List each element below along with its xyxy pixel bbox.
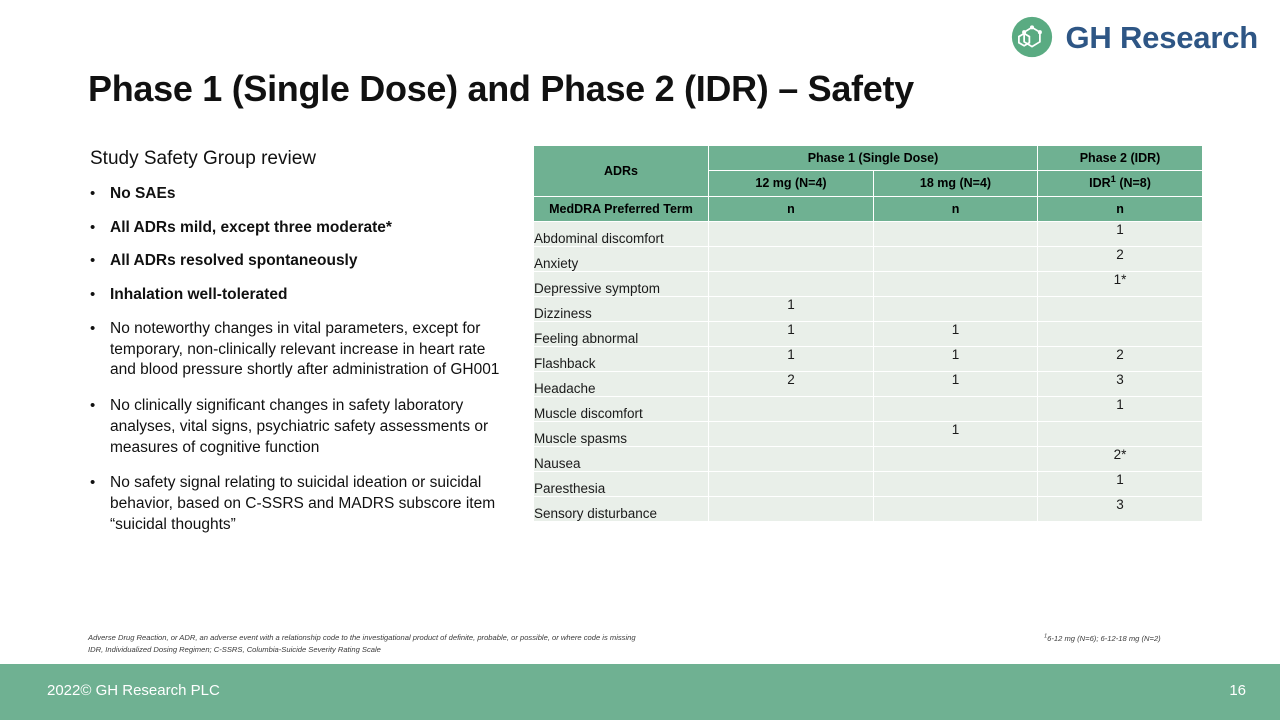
cell-12mg: [709, 497, 874, 522]
adr-table-body: Abdominal discomfort 1 Anxiety 2 Depress…: [534, 222, 1203, 522]
cell-18mg: [874, 472, 1038, 497]
cell-18mg: 1: [874, 347, 1038, 372]
footnote-right: 16-12 mg (N=6); 6-12-18 mg (N=2): [1044, 633, 1161, 645]
summary-heading: Study Safety Group review: [90, 148, 500, 171]
brand-name: GH Research: [1065, 22, 1258, 53]
cell-12mg: [709, 397, 874, 422]
bullet-dot-icon: •: [90, 218, 110, 238]
column-header-phase2: Phase 2 (IDR): [1038, 146, 1203, 171]
table-row: Flashback 1 1 2: [534, 347, 1203, 372]
column-header-dose-12mg: 12 mg (N=4): [709, 171, 874, 196]
bullet-dot-icon: •: [90, 319, 110, 339]
list-item: • Inhalation well-tolerated: [90, 285, 500, 306]
cell-18mg: 1: [874, 372, 1038, 397]
table-row: Sensory disturbance 3: [534, 497, 1203, 522]
table-row: Feeling abnormal 1 1: [534, 322, 1203, 347]
cell-idr: 3: [1038, 497, 1203, 522]
cell-12mg: [709, 472, 874, 497]
footnote-right-text: 6-12 mg (N=6); 6-12-18 mg (N=2): [1047, 634, 1161, 643]
cell-18mg: [874, 272, 1038, 297]
cell-idr: 1: [1038, 397, 1203, 422]
cell-18mg: [874, 222, 1038, 247]
cell-term: Feeling abnormal: [534, 322, 709, 347]
bullet-dot-icon: •: [90, 285, 110, 305]
cell-idr: 2*: [1038, 447, 1203, 472]
list-item-label: No clinically significant changes in saf…: [110, 396, 500, 458]
cell-18mg: [874, 297, 1038, 322]
cell-18mg: [874, 497, 1038, 522]
cell-term: Flashback: [534, 347, 709, 372]
table-row: Dizziness 1: [534, 297, 1203, 322]
bullet-dot-icon: •: [90, 251, 110, 271]
cell-term: Depressive symptom: [534, 272, 709, 297]
cell-term: Dizziness: [534, 297, 709, 322]
list-item-label: Inhalation well-tolerated: [110, 285, 500, 306]
idr-label: IDR: [1089, 176, 1111, 190]
footnote-line-2: IDR, Individualized Dosing Regimen; C-SS…: [88, 644, 788, 656]
column-header-dose-idr: IDR1 (N=8): [1038, 171, 1203, 196]
list-item-label: All ADRs mild, except three moderate*: [110, 218, 500, 239]
bullet-dot-icon: •: [90, 184, 110, 204]
table-row: Headache 2 1 3: [534, 372, 1203, 397]
cell-18mg: [874, 397, 1038, 422]
table-row: Nausea 2*: [534, 447, 1203, 472]
list-item-label: All ADRs resolved spontaneously: [110, 251, 500, 272]
cell-term: Muscle spasms: [534, 422, 709, 447]
cell-term: Muscle discomfort: [534, 397, 709, 422]
cell-idr: [1038, 297, 1203, 322]
list-item: • No noteworthy changes in vital paramet…: [90, 319, 500, 381]
cell-term: Paresthesia: [534, 472, 709, 497]
cell-12mg: 1: [709, 322, 874, 347]
list-item-label: No noteworthy changes in vital parameter…: [110, 319, 500, 381]
cell-12mg: [709, 272, 874, 297]
footnote-line-1: Adverse Drug Reaction, or ADR, an advers…: [88, 632, 788, 644]
cell-idr: 1: [1038, 222, 1203, 247]
column-header-adrs: ADRs: [534, 146, 709, 197]
molecule-hexagon-icon: [1011, 16, 1053, 58]
list-item: • No clinically significant changes in s…: [90, 396, 500, 458]
cell-12mg: 1: [709, 297, 874, 322]
cell-12mg: [709, 422, 874, 447]
table-row: Anxiety 2: [534, 247, 1203, 272]
list-item: • All ADRs resolved spontaneously: [90, 251, 500, 272]
cell-12mg: [709, 222, 874, 247]
cell-idr: 1*: [1038, 272, 1203, 297]
cell-term: Sensory disturbance: [534, 497, 709, 522]
cell-12mg: [709, 247, 874, 272]
cell-18mg: [874, 447, 1038, 472]
column-header-phase1: Phase 1 (Single Dose): [709, 146, 1038, 171]
page-number: 16: [1229, 682, 1246, 699]
cell-12mg: 2: [709, 372, 874, 397]
adr-table-container: ADRs Phase 1 (Single Dose) Phase 2 (IDR)…: [533, 145, 1202, 522]
cell-idr: [1038, 422, 1203, 447]
table-row: Paresthesia 1: [534, 472, 1203, 497]
list-item: • No safety signal relating to suicidal …: [90, 473, 500, 535]
page-title: Phase 1 (Single Dose) and Phase 2 (IDR) …: [88, 68, 914, 110]
table-header-row-meddra: MedDRA Preferred Term n n n: [534, 196, 1203, 221]
list-item-label: No SAEs: [110, 184, 500, 205]
bullet-dot-icon: •: [90, 396, 110, 416]
cell-term: Headache: [534, 372, 709, 397]
column-header-n-18mg: n: [874, 196, 1038, 221]
bullet-dot-icon: •: [90, 473, 110, 493]
idr-count: (N=8): [1116, 176, 1151, 190]
cell-12mg: 1: [709, 347, 874, 372]
footnote-left: Adverse Drug Reaction, or ADR, an advers…: [88, 632, 788, 656]
cell-idr: [1038, 322, 1203, 347]
list-item: • No SAEs: [90, 184, 500, 205]
column-header-dose-18mg: 18 mg (N=4): [874, 171, 1038, 196]
list-item: • All ADRs mild, except three moderate*: [90, 218, 500, 239]
brand-logo: GH Research: [1011, 16, 1258, 58]
table-row: Muscle discomfort 1: [534, 397, 1203, 422]
cell-18mg: 1: [874, 322, 1038, 347]
footer-copyright: 2022© GH Research PLC: [47, 682, 220, 699]
column-header-meddra: MedDRA Preferred Term: [534, 196, 709, 221]
cell-term: Nausea: [534, 447, 709, 472]
table-row: Abdominal discomfort 1: [534, 222, 1203, 247]
cell-18mg: [874, 247, 1038, 272]
table-row: Muscle spasms 1: [534, 422, 1203, 447]
table-header-row-groups: ADRs Phase 1 (Single Dose) Phase 2 (IDR): [534, 146, 1203, 171]
cell-idr: 1: [1038, 472, 1203, 497]
table-row: Depressive symptom 1*: [534, 272, 1203, 297]
cell-idr: 3: [1038, 372, 1203, 397]
summary-panel: Study Safety Group review • No SAEs • Al…: [90, 148, 500, 551]
cell-term: Abdominal discomfort: [534, 222, 709, 247]
footer-bar: 2022© GH Research PLC 16: [0, 664, 1280, 720]
cell-18mg: 1: [874, 422, 1038, 447]
list-item-label: No safety signal relating to suicidal id…: [110, 473, 500, 535]
cell-idr: 2: [1038, 247, 1203, 272]
adr-table: ADRs Phase 1 (Single Dose) Phase 2 (IDR)…: [533, 145, 1203, 522]
cell-idr: 2: [1038, 347, 1203, 372]
column-header-n-idr: n: [1038, 196, 1203, 221]
cell-12mg: [709, 447, 874, 472]
cell-term: Anxiety: [534, 247, 709, 272]
column-header-n-12mg: n: [709, 196, 874, 221]
